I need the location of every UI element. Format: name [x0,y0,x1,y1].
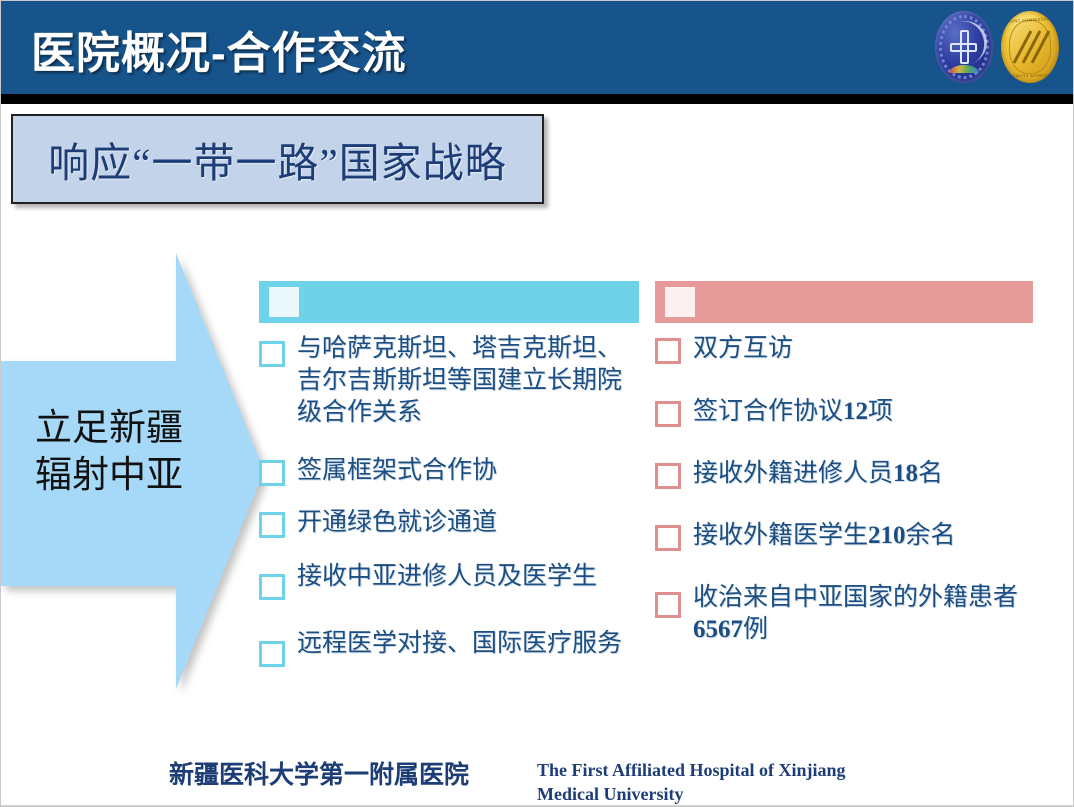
checkbox-icon[interactable] [259,460,285,486]
footer-divider [1,805,1074,806]
list-item-label: 双方互访 [693,333,793,365]
list-item-label: 接收外籍医学生210余名 [693,520,956,552]
list-item[interactable]: 收治来自中亚国家的外籍患者6567例 [655,582,1033,646]
slide-canvas: 医院概况-合作交流 JOINT COMMISSION INTERNATIONAL… [0,0,1074,807]
footer-hospital-name-en: The First Affiliated Hospital of Xinjian… [537,758,937,807]
page-title: 医院概况-合作交流 [31,17,407,81]
subtitle-text: 响应“一带一路”国家战略 [48,129,506,189]
emblem-cross-horizontal [950,43,977,52]
list-item-label: 与哈萨克斯坦、塔吉克斯坦、吉尔吉斯斯坦等国建立长期院级合作关系 [297,333,639,429]
jci-gold-seal-logo-icon: JOINT COMMISSION INTERNATIONAL QUALITY A… [1001,11,1059,83]
list-item[interactable]: 签属框架式合作协 [259,455,639,487]
list-item[interactable]: 接收外籍医学生210余名 [655,520,1033,552]
banner-underline-rule [1,94,1074,104]
jci-seal-bottom-text: QUALITY APPROVAL [1009,73,1055,78]
column-right-header-checkbox-icon [665,287,695,317]
jci-seal-text: JOINT COMMISSION INTERNATIONAL QUALITY A… [1001,11,1059,83]
list-item[interactable]: 接收外籍进修人员18名 [655,458,1033,490]
cooperation-column-right: 双方互访 签订合作协议12项 接收外籍进修人员18名 接收外籍医学生210余名 … [655,281,1033,652]
hospital-emblem-logo-icon [935,11,993,83]
column-right-header-bar [655,281,1033,323]
checkbox-icon[interactable] [259,641,285,667]
list-item[interactable]: 双方互访 [655,333,1033,365]
column-left-header-bar [259,281,639,323]
list-item[interactable]: 接收中亚进修人员及医学生 [259,561,639,600]
arrow-label: 立足新疆 辐射中亚 [19,405,199,500]
list-item-label: 接收外籍进修人员18名 [693,458,943,490]
arrow-label-line-1: 立足新疆 [19,405,199,452]
column-right-item-list: 双方互访 签订合作协议12项 接收外籍进修人员18名 接收外籍医学生210余名 … [655,333,1033,646]
checkbox-icon[interactable] [259,341,285,367]
logo-group: JOINT COMMISSION INTERNATIONAL QUALITY A… [935,11,1059,83]
list-item-label: 签属框架式合作协 [297,455,497,487]
column-left-item-list: 与哈萨克斯坦、塔吉克斯坦、吉尔吉斯斯坦等国建立长期院级合作关系 签属框架式合作协… [259,333,639,667]
list-item[interactable]: 签订合作协议12项 [655,396,1033,428]
footer-hospital-name-cn: 新疆医科大学第一附属医院 [169,755,469,791]
cooperation-column-left: 与哈萨克斯坦、塔吉克斯坦、吉尔吉斯斯坦等国建立长期院级合作关系 签属框架式合作协… [259,281,639,673]
checkbox-icon[interactable] [259,512,285,538]
checkbox-icon[interactable] [655,338,681,364]
checkbox-icon[interactable] [655,592,681,618]
list-item-label: 收治来自中亚国家的外籍患者6567例 [693,582,1033,646]
list-item-label: 远程医学对接、国际医疗服务 [297,628,622,660]
checkbox-icon[interactable] [655,401,681,427]
list-item[interactable]: 远程医学对接、国际医疗服务 [259,628,639,667]
list-item-label: 签订合作协议12项 [693,396,893,428]
footer-en-line-2: Medical University [537,782,937,806]
jci-seal-top-text: JOINT COMMISSION INTERNATIONAL [1007,13,1059,24]
arrow-label-line-2: 辐射中亚 [19,452,199,499]
list-item-label: 开通绿色就诊通道 [297,507,497,539]
title-banner: 医院概况-合作交流 JOINT COMMISSION INTERNATIONAL… [1,1,1074,94]
list-item-label: 接收中亚进修人员及医学生 [297,561,597,593]
list-item[interactable]: 开通绿色就诊通道 [259,507,639,539]
list-item[interactable]: 与哈萨克斯坦、塔吉克斯坦、吉尔吉斯斯坦等国建立长期院级合作关系 [259,333,639,429]
checkbox-icon[interactable] [655,525,681,551]
checkbox-icon[interactable] [655,463,681,489]
subtitle-box: 响应“一带一路”国家战略 [11,114,544,204]
column-left-header-checkbox-icon [269,287,299,317]
checkbox-icon[interactable] [259,574,285,600]
footer-en-line-1: The First Affiliated Hospital of Xinjian… [537,758,937,782]
